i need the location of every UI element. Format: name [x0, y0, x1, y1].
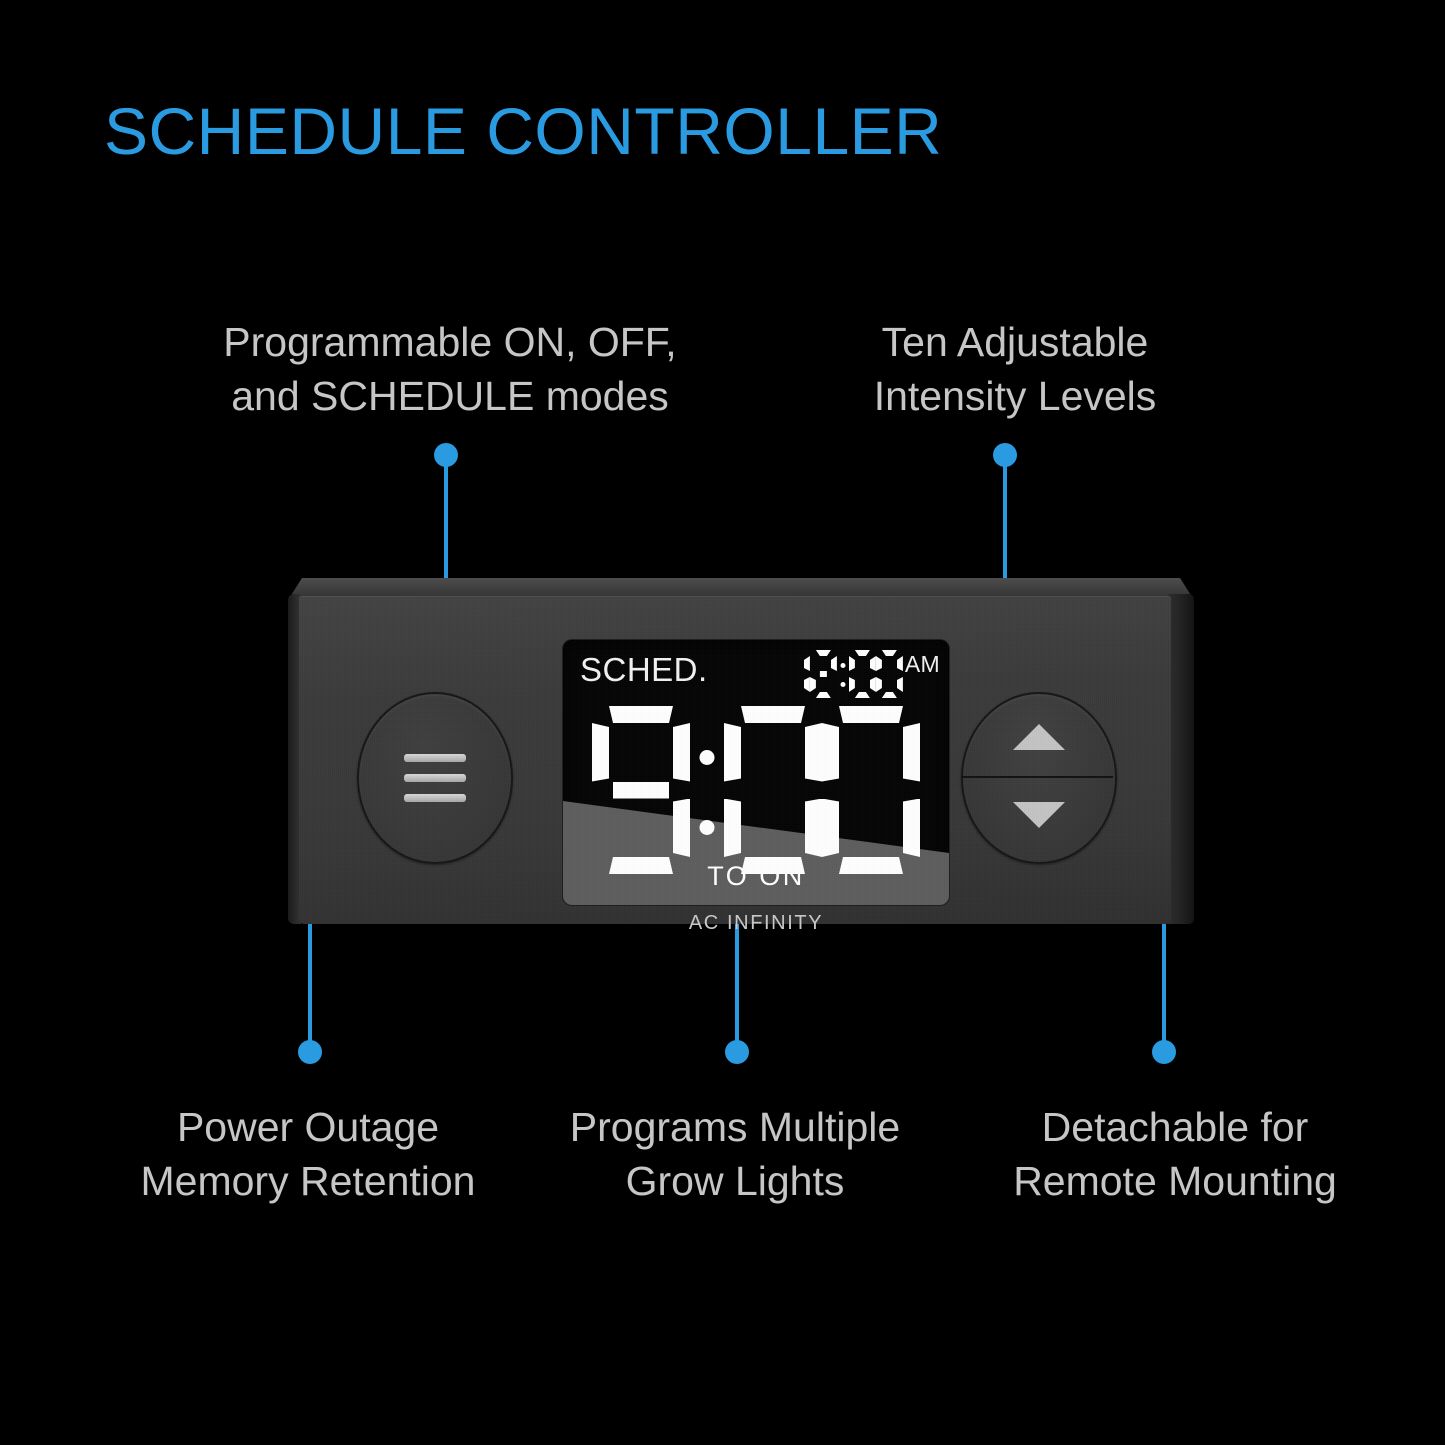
callout-detachable-mounting: Detachable for Remote Mounting [975, 1100, 1375, 1208]
brand-label: AC INFINITY [563, 912, 949, 935]
seg-digit-2 [810, 650, 837, 698]
infographic-canvas: SCHEDULE CONTROLLER Programmable ON, OFF… [0, 0, 1445, 1445]
callout-line-2: Grow Lights [540, 1154, 930, 1208]
callout-intensity-levels: Ten Adjustable Intensity Levels [810, 315, 1220, 423]
lcd-main-digits [592, 706, 920, 874]
lcd-display: SCHED. AM TO ON [563, 640, 949, 905]
seg-digit-0 [876, 650, 903, 698]
seg-digit-0 [724, 706, 822, 874]
leader-dot-detachable-mounting [1152, 1040, 1176, 1064]
callout-line-2: Memory Retention [50, 1154, 566, 1208]
device-front-panel: SCHED. AM TO ON AC INFINITY [299, 596, 1171, 924]
triangle-down-icon[interactable] [1013, 802, 1065, 828]
lcd-status-label: TO ON [563, 861, 949, 892]
leader-line-multiple-grow-lights [735, 922, 739, 1046]
callout-line-1: Programmable ON, OFF, [223, 319, 676, 365]
leader-line-detachable-mounting [1162, 922, 1166, 1046]
mode-button[interactable] [357, 692, 513, 864]
callout-line-2: Remote Mounting [975, 1154, 1375, 1208]
lcd-mode-label: SCHED. [580, 651, 708, 689]
callout-multiple-grow-lights: Programs Multiple Grow Lights [540, 1100, 930, 1208]
page-title: SCHEDULE CONTROLLER [104, 98, 942, 164]
lcd-clock-digits [783, 650, 903, 698]
lcd-main-time [563, 706, 949, 874]
leader-line-intensity-levels [1003, 455, 1007, 585]
callout-power-outage-memory: Power Outage Memory Retention [50, 1100, 566, 1208]
seg-colon [837, 650, 849, 698]
intensity-rocker-button[interactable] [961, 692, 1117, 864]
menu-icon [404, 754, 466, 802]
seg-digit-0 [849, 650, 876, 698]
seg-digit-0 [822, 706, 920, 874]
leader-dot-multiple-grow-lights [725, 1040, 749, 1064]
callout-line-1: Programs Multiple [570, 1104, 900, 1150]
seg-digit-9 [592, 706, 690, 874]
callout-line-2: Intensity Levels [810, 369, 1220, 423]
seg-colon [690, 706, 724, 874]
callout-line-1: Detachable for [1042, 1104, 1309, 1150]
leader-line-programmable-modes [444, 455, 448, 585]
rocker-divider [961, 776, 1113, 778]
callout-line-2: and SCHEDULE modes [190, 369, 710, 423]
callout-programmable-modes: Programmable ON, OFF, and SCHEDULE modes [190, 315, 710, 423]
schedule-controller-device: SCHED. AM TO ON AC INFINITY [288, 578, 1194, 926]
callout-line-1: Power Outage [177, 1104, 439, 1150]
lcd-clock: AM [783, 650, 940, 698]
seg-digit-1 [783, 650, 810, 698]
callout-line-1: Ten Adjustable [882, 319, 1149, 365]
device-right-side [1168, 594, 1194, 924]
leader-dot-power-outage-memory [298, 1040, 322, 1064]
lcd-clock-meridiem: AM [905, 651, 940, 678]
leader-line-power-outage-memory [308, 922, 312, 1046]
triangle-up-icon[interactable] [1013, 724, 1065, 750]
